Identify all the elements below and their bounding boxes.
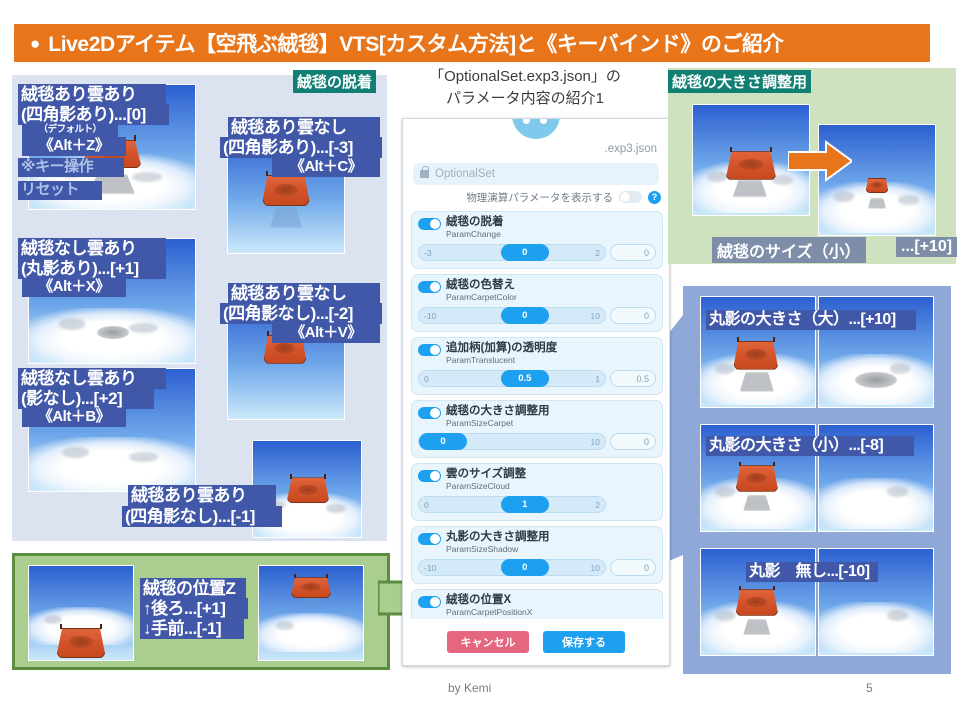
cloud-speck: [59, 318, 86, 329]
parameter-id: ParamCarpetColor: [446, 292, 517, 303]
cloud-speck: [276, 621, 295, 630]
photo-position-z-front: [28, 565, 134, 661]
parameter-slider[interactable]: 021: [418, 496, 606, 513]
parameter-toggle[interactable]: [418, 281, 441, 293]
slider-min: -3: [424, 248, 432, 258]
carpet-image: [725, 151, 776, 180]
photo-position-z-back: [258, 565, 364, 661]
file-name-field[interactable]: OptionalSet: [413, 163, 659, 185]
footer-author: by Kemi: [448, 681, 491, 695]
physics-toggle[interactable]: [619, 191, 642, 203]
parameter-slider[interactable]: -10100: [418, 307, 606, 324]
parameter-row[interactable]: 絨毯の脱着ParamChange-3200: [411, 211, 663, 269]
parameter-row[interactable]: 丸影の大きさ調整用ParamSizeShadow-101000: [411, 526, 663, 584]
cloud-speck: [132, 172, 162, 182]
label-carpet-nocloud-noshadow-2: (四角影なし)...[-2]: [220, 303, 382, 324]
slider-knob[interactable]: 0: [501, 559, 549, 576]
parameter-toggle[interactable]: [418, 344, 441, 356]
label-keybind-alt-c: 《Alt＋C》: [272, 158, 380, 177]
label-carpet-cloud-noshadow-2: (四角影なし)...[-1]: [122, 506, 282, 527]
size-change-arrow-icon: [788, 140, 852, 182]
label-nocarpet-cloud-round: 絨毯なし雲あり: [18, 238, 166, 259]
label-nocarpet-cloud-noshadow: 絨毯なし雲あり: [18, 368, 166, 389]
parameter-name: 絨毯の大きさ調整用: [446, 405, 550, 418]
parameter-toggle[interactable]: [418, 407, 441, 419]
parameter-toggle[interactable]: [418, 218, 441, 230]
label-carpet-nocloud-square: 絨毯あり雲なし: [228, 117, 380, 138]
parameter-name: 雲のサイズ調整: [446, 468, 526, 481]
parameter-id: ParamCarpetPositionX: [446, 607, 532, 618]
heading-carpet-attach-detach: 絨毯の脱着: [293, 70, 376, 93]
slider-max: 2: [595, 500, 600, 510]
slider-knob[interactable]: 0: [419, 433, 467, 450]
caption-line-2: パラメータ内容の紹介1: [395, 88, 655, 110]
card-label-shadow-large: 丸影の大きさ（大）...[+10]: [706, 310, 916, 330]
label-carpet-cloud-square-shadow-2: (四角影あり)...[0]: [18, 104, 169, 125]
carpet-image: [735, 465, 778, 492]
parameter-row[interactable]: 追加柄(加算)の透明度ParamTranslucent010.50.5: [411, 337, 663, 395]
parameter-name: 追加柄(加算)の透明度: [446, 342, 557, 355]
parameter-id: ParamSizeCarpet: [446, 418, 550, 429]
cloud-shape: [818, 478, 934, 529]
label-carpet-nocloud-noshadow: 絨毯あり雲なし: [228, 283, 380, 304]
caption-line-1: 「OptionalSet.exp3.json」の: [395, 66, 655, 88]
label-carpet-cloud-square-shadow: 絨毯あり雲あり: [18, 84, 166, 105]
slider-min: -10: [424, 311, 436, 321]
parameter-id: ParamSizeShadow: [446, 544, 550, 555]
label-position-z-title: 絨毯の位置Z: [140, 578, 246, 599]
cloud-shape: [28, 437, 196, 491]
parameter-row[interactable]: 絨毯の色替えParamCarpetColor-101000: [411, 274, 663, 332]
parameter-toggle[interactable]: [418, 470, 441, 482]
slider-min: -10: [424, 563, 436, 573]
carpet-image: [735, 589, 778, 616]
help-icon[interactable]: ?: [648, 191, 661, 204]
save-button[interactable]: 保存する: [543, 631, 625, 653]
label-default-note: （デフォルト）: [22, 124, 118, 137]
cloud-speck: [833, 191, 854, 202]
slider-max: 10: [591, 311, 600, 321]
file-name-value: OptionalSet: [435, 168, 495, 180]
carpet-image: [733, 341, 779, 370]
parameter-slider[interactable]: -320: [418, 244, 606, 261]
parameter-value-box[interactable]: 0.5: [610, 370, 656, 387]
label-position-z-back: ↑後ろ...[+1]: [140, 598, 248, 619]
round-shadow: [97, 326, 129, 340]
cloud-shape: [818, 602, 934, 653]
carpet-image: [865, 178, 888, 193]
parameter-value-box[interactable]: 0: [610, 559, 656, 576]
label-nocarpet-cloud-round-2: (丸影あり)...[+1]: [18, 258, 166, 279]
bullet-icon: ●: [30, 35, 40, 52]
cloud-speck: [129, 452, 159, 462]
parameter-toggle[interactable]: [418, 596, 441, 608]
parameter-value-box[interactable]: 0: [610, 307, 656, 324]
optionalset-dialog: .exp3.json OptionalSet 物理演算パラメータを表示する ? …: [402, 118, 670, 666]
parameter-value-box[interactable]: 0: [610, 433, 656, 450]
parameter-id: ParamChange: [446, 229, 504, 240]
label-carpet-cloud-noshadow: 絨毯あり雲あり: [128, 485, 276, 506]
slider-max: 10: [591, 563, 600, 573]
parameter-id: ParamTranslucent: [446, 355, 557, 366]
parameter-row[interactable]: 絨毯の大きさ調整用ParamSizeCarpet1000: [411, 400, 663, 458]
cloud-speck: [62, 447, 89, 458]
slider-max: 1: [595, 374, 600, 384]
label-keybind-alt-v: 《Alt＋V》: [272, 324, 380, 343]
parameter-name: 絨毯の位置X: [446, 594, 532, 607]
page-title: Live2Dアイテム【空飛ぶ絨毯】VTS[カスタム方法]と《キーバインド》のご紹…: [48, 28, 783, 58]
center-caption: 「OptionalSet.exp3.json」の パラメータ内容の紹介1: [395, 66, 655, 110]
slider-min: 0: [424, 500, 429, 510]
slide-title-bar: ● Live2Dアイテム【空飛ぶ絨毯】VTS[カスタム方法]と《キーバインド》の…: [14, 24, 930, 62]
carpet-image: [262, 175, 311, 206]
carpet-image: [286, 477, 329, 503]
label-carpet-nocloud-square-2: (四角影あり)...[-3]: [220, 137, 382, 158]
slider-max: 10: [591, 437, 600, 447]
round-shadow: [855, 372, 896, 389]
card-label-shadow-small: 丸影の大きさ（小）...[-8]: [706, 436, 914, 456]
label-nocarpet-cloud-noshadow-2: (影なし)...[+2]: [18, 388, 154, 409]
slider-knob[interactable]: 0: [501, 307, 549, 324]
parameter-name: 絨毯の色替え: [446, 279, 517, 292]
slider-knob[interactable]: 0: [501, 244, 549, 261]
physics-toggle-row: 物理演算パラメータを表示する ?: [413, 189, 661, 205]
slider-max: 2: [595, 248, 600, 258]
caption-carpet-size-small-value: ...[+10]: [896, 237, 957, 257]
parameter-slider[interactable]: 010.5: [418, 370, 606, 387]
parameter-row[interactable]: 絨毯の位置XParamCarpetPositionX-303000: [411, 589, 663, 619]
footer-page-number: 5: [866, 681, 873, 695]
cloud-speck: [890, 363, 911, 374]
slider-min: 0: [424, 374, 429, 384]
label-position-z-front: ↓手前...[-1]: [140, 618, 244, 639]
physics-toggle-label: 物理演算パラメータを表示する: [466, 190, 613, 205]
parameter-id: ParamSizeCloud: [446, 481, 526, 492]
caption-carpet-size-small: 絨毯のサイズ（小）: [712, 237, 866, 263]
carpet-image: [56, 628, 106, 658]
square-shadow: [270, 207, 302, 227]
cloud-speck: [326, 504, 345, 513]
parameter-name: 絨毯の脱着: [446, 216, 504, 229]
cloud-shape: [258, 613, 364, 652]
label-reset-note-1: ※キー操作: [18, 158, 124, 177]
heading-carpet-size: 絨毯の大きさ調整用: [668, 70, 811, 93]
cloud-speck: [887, 610, 908, 621]
slider-knob[interactable]: 1: [501, 496, 549, 513]
slide-root: ● Live2Dアイテム【空飛ぶ絨毯】VTS[カスタム方法]と《キーバインド》の…: [0, 0, 960, 720]
parameter-name: 丸影の大きさ調整用: [446, 531, 550, 544]
parameter-slider[interactable]: 100: [418, 433, 606, 450]
label-keybind-alt-z: 《Alt＋Z》: [22, 137, 126, 156]
parameter-list[interactable]: 絨毯の脱着ParamChange-3200絨毯の色替えParamCarpetCo…: [411, 211, 663, 619]
parameter-slider[interactable]: -10100: [418, 559, 606, 576]
parameter-row[interactable]: 雲のサイズ調整ParamSizeCloud021: [411, 463, 663, 521]
parameter-value-box[interactable]: 0: [610, 244, 656, 261]
cloud-speck: [887, 486, 908, 497]
slider-knob[interactable]: 0.5: [501, 370, 549, 387]
label-keybind-alt-b: 《Alt＋B》: [22, 408, 126, 427]
label-reset-note-2: リセット: [18, 181, 102, 200]
cat-avatar-icon: [512, 118, 560, 139]
parameter-toggle[interactable]: [418, 533, 441, 545]
dialog-buttons: キャンセル 保存する: [403, 619, 669, 665]
label-keybind-alt-x: 《Alt＋X》: [22, 278, 126, 297]
lock-icon: [420, 170, 429, 178]
card-label-shadow-none: 丸影 無し...[-10]: [746, 562, 878, 582]
dialog-header: .exp3.json OptionalSet 物理演算パラメータを表示する ?: [403, 119, 669, 171]
file-extension-label: .exp3.json: [605, 143, 657, 155]
carpet-image: [290, 577, 332, 598]
cancel-button[interactable]: キャンセル: [447, 631, 529, 653]
